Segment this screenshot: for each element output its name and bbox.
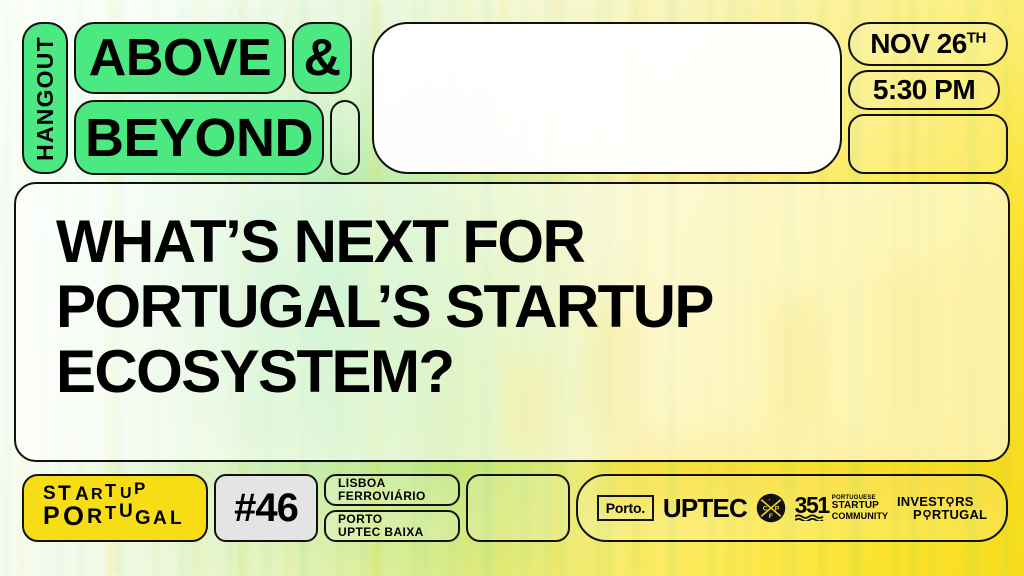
title-above-pill: ABOVE — [74, 22, 286, 94]
sp-letter: A — [153, 509, 167, 528]
decorative-spare-pill — [848, 114, 1008, 174]
351-number-label: 351 — [795, 495, 829, 516]
location-venue: UPTEC BAIXA — [338, 526, 424, 539]
key-icon — [922, 510, 932, 520]
sp-letter: P — [43, 504, 60, 529]
startup-portugal-logo: S T A R T U P P O R T U G A L — [22, 474, 208, 542]
hangout-kicker-label: HANGOUT — [32, 36, 59, 161]
351-community-logo: 351 PORTUGUESE STARTUP COMMUNITY — [795, 495, 889, 522]
startup-portugal-wordmark: S T A R T U P P O R T U G A L — [39, 482, 191, 534]
351-line3: COMMUNITY — [832, 512, 888, 521]
title-ampersand-pill: & — [292, 22, 352, 94]
sp-letter: U — [120, 486, 132, 502]
location-lisboa: LISBOA FERROVIÁRIO — [324, 474, 460, 506]
sponsor-bar: Porto. UPTEC C P F * 351 PORTUGUESE STAR… — [576, 474, 1008, 542]
event-date-label: NOV 26TH — [870, 28, 986, 60]
title-above-label: ABOVE — [89, 32, 271, 84]
sp-letter: G — [135, 508, 151, 528]
svg-text:P: P — [775, 505, 780, 512]
svg-text:F: F — [769, 513, 773, 520]
svg-text:C: C — [763, 505, 768, 512]
sp-letter: L — [170, 509, 182, 528]
investors-line2-b: RTUGAL — [932, 507, 987, 522]
sp-letter: P — [134, 480, 145, 497]
sp-letter: R — [91, 487, 103, 503]
investors-line2-a: P — [913, 507, 922, 522]
location-venue: FERROVIÁRIO — [338, 490, 426, 503]
decorative-filler-pill — [466, 474, 570, 542]
location-porto: PORTO UPTEC BAIXA — [324, 510, 460, 542]
sp-letter: U — [119, 502, 133, 521]
poster-canvas: HANGOUT ABOVE & BEYOND NOV 26TH 5:30 PM … — [0, 0, 1024, 576]
page-title: WHAT’S NEXT FOR PORTUGAL’S STARTUP ECOSY… — [56, 210, 968, 404]
issue-number-label: #46 — [234, 486, 298, 531]
porto-wordmark-icon: Porto. — [597, 495, 654, 521]
investors-portugal-logo: INVESTRS PRTUGAL — [897, 495, 987, 521]
headline-card: WHAT’S NEXT FOR PORTUGAL’S STARTUP ECOSY… — [14, 182, 1010, 462]
sp-letter: O — [63, 503, 84, 530]
event-date-pill: NOV 26TH — [848, 22, 1008, 66]
event-time-label: 5:30 PM — [873, 74, 975, 106]
sp-letter: T — [105, 504, 116, 522]
title-beyond-label: BEYOND — [85, 111, 313, 165]
hangout-kicker-pill: HANGOUT — [22, 22, 68, 174]
sp-letter: S — [43, 484, 56, 503]
title-ampersand-label: & — [303, 32, 340, 84]
event-time-pill: 5:30 PM — [848, 70, 1000, 110]
uptec-wordmark-icon: UPTEC — [663, 493, 747, 524]
sp-letter: T — [105, 482, 116, 500]
title-beyond-pill: BEYOND — [74, 100, 324, 175]
key-icon — [945, 497, 955, 507]
sp-letter: R — [87, 506, 102, 527]
cfp-circular-emblem-icon: C P F * — [756, 493, 786, 523]
decorative-glass-pill — [330, 100, 360, 175]
hero-blank-card — [372, 22, 842, 174]
issue-number-chip: #46 — [214, 474, 318, 542]
